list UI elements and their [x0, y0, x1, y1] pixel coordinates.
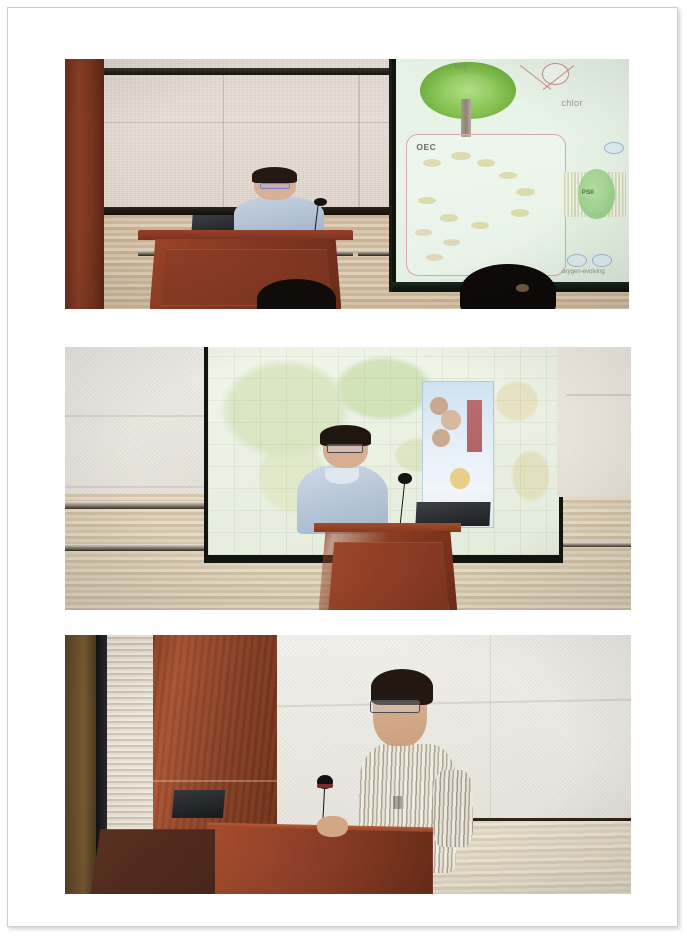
lectern-top [314, 523, 461, 532]
slide-proton-icon [604, 142, 624, 155]
slide-poster-title-text [467, 400, 482, 453]
photo-3-scene [65, 635, 631, 894]
lectern-side-shelf [90, 829, 215, 894]
photo-speaker-striped-shirt[interactable]: Male speaker with glasses in a grey and … [65, 635, 631, 894]
laptop [171, 790, 224, 818]
speaker-arm [433, 770, 473, 848]
slide-eq-label: eq [454, 60, 467, 72]
lectern-top [138, 230, 352, 240]
slide-water-icon [567, 254, 587, 267]
wall-seam-horizontal-1 [65, 415, 215, 417]
audience-hair-clip [516, 284, 528, 292]
slide-node [415, 229, 432, 236]
photo-stack: eq chlor OEC [8, 8, 677, 926]
slide-node [418, 197, 436, 205]
page-root: eq chlor OEC [0, 0, 687, 942]
wall-seam-vertical-1 [223, 67, 225, 220]
lectern-front-panel [328, 542, 449, 610]
slide-node [516, 188, 535, 196]
slide-node [426, 254, 443, 261]
wood-pillar [65, 59, 104, 309]
wood-door-seam [153, 780, 278, 782]
slide-chloroplast-label: chlor [561, 98, 583, 108]
document-sheet: eq chlor OEC [7, 7, 678, 927]
slide-node [451, 152, 470, 161]
speaker-glasses [260, 183, 290, 190]
photo-2-scene [65, 347, 631, 610]
speaker-shirt-pocket [393, 796, 402, 809]
slide-node [477, 159, 495, 167]
microphone-head [398, 473, 412, 484]
speaker-glasses [327, 444, 363, 452]
slide-oec-label: OEC [416, 142, 436, 152]
photo-1-scene: eq chlor OEC [65, 59, 629, 309]
window-blinds [107, 635, 152, 842]
slide-poster-portrait-2 [441, 410, 460, 430]
slide-node [511, 209, 529, 217]
photo-speaker-photosynthesis-slide[interactable]: eq chlor OEC [65, 59, 629, 309]
slide-node [440, 214, 458, 222]
wall-right-seam [566, 394, 631, 396]
slide-node [471, 222, 489, 230]
wall-seam-vertical-2 [358, 67, 360, 220]
slide-tree-trunk-icon [461, 99, 470, 137]
slide-node [499, 172, 517, 180]
microphone-head [314, 198, 327, 206]
wall-right-panel [557, 347, 631, 497]
lectern-body [207, 827, 433, 894]
slide-sun-icon [542, 63, 569, 85]
slide-psii-label: PSII [582, 189, 594, 196]
speaker-glasses [370, 700, 420, 714]
slide-poster-globe-icon [450, 468, 470, 489]
microphone-ring [317, 784, 333, 788]
photo-speaker-world-map-slide[interactable]: Male speaker with glasses in a light blu… [65, 347, 631, 610]
slide-oxygen-icon [592, 254, 612, 267]
speaker-collar [325, 468, 359, 484]
speaker-hand [317, 816, 348, 837]
speaker-hair [252, 167, 297, 183]
door-left [65, 635, 96, 894]
wall-seam-vertical [490, 635, 492, 832]
slide-node [443, 239, 460, 246]
wall-seam-horizontal-2 [65, 486, 215, 488]
audience-head-2 [460, 264, 556, 309]
speaker-hair [320, 425, 371, 446]
slide-oxygen-evolving-label: oxygen-evolving [561, 269, 604, 275]
slide-poster-portrait-3 [432, 429, 450, 447]
